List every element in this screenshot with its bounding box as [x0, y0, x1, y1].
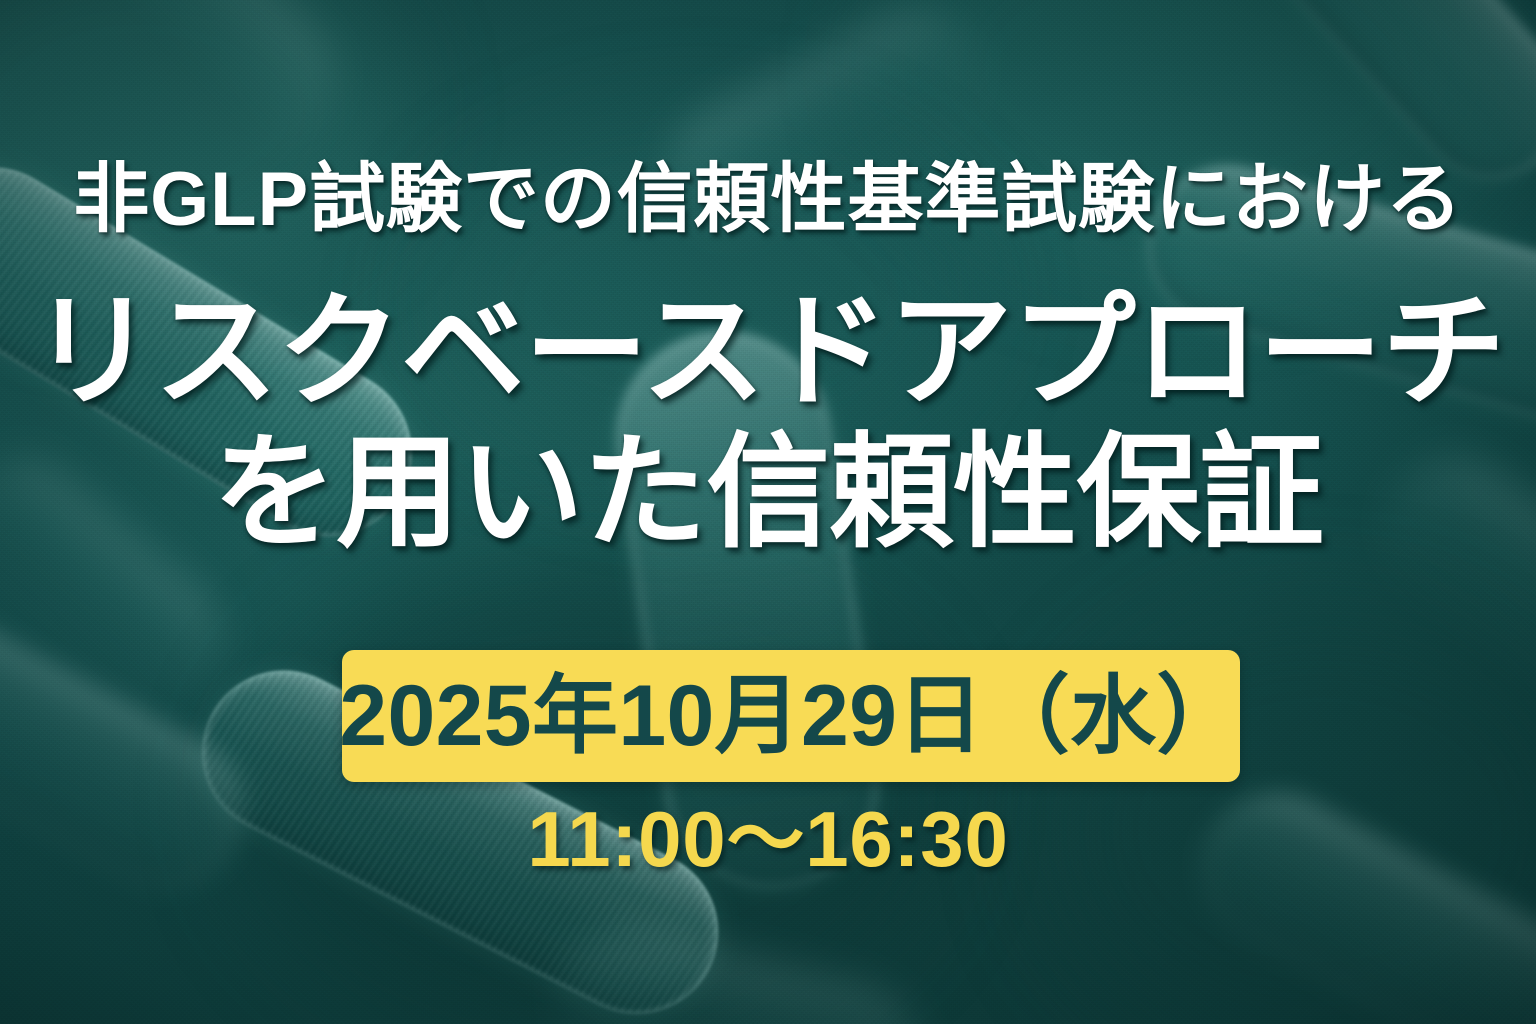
poster-title-line-2: を用いた信頼性保証 — [0, 423, 1536, 564]
poster-content: 非GLP試験での信頼性基準試験における リスクベースドアプローチ を用いた信頼性… — [0, 0, 1536, 1024]
seminar-title-poster: 非GLP試験での信頼性基準試験における リスクベースドアプローチ を用いた信頼性… — [0, 0, 1536, 1024]
poster-title: リスクベースドアプローチ を用いた信頼性保証 — [0, 282, 1536, 565]
date-badge: 2025年10月29日（水） — [342, 650, 1240, 782]
poster-subtitle: 非GLP試験での信頼性基準試験における — [0, 162, 1536, 238]
time-range-text: 11:00〜16:30 — [0, 800, 1536, 878]
date-badge-text: 2025年10月29日（水） — [339, 673, 1242, 759]
poster-title-line-1: リスクベースドアプローチ — [0, 282, 1536, 423]
